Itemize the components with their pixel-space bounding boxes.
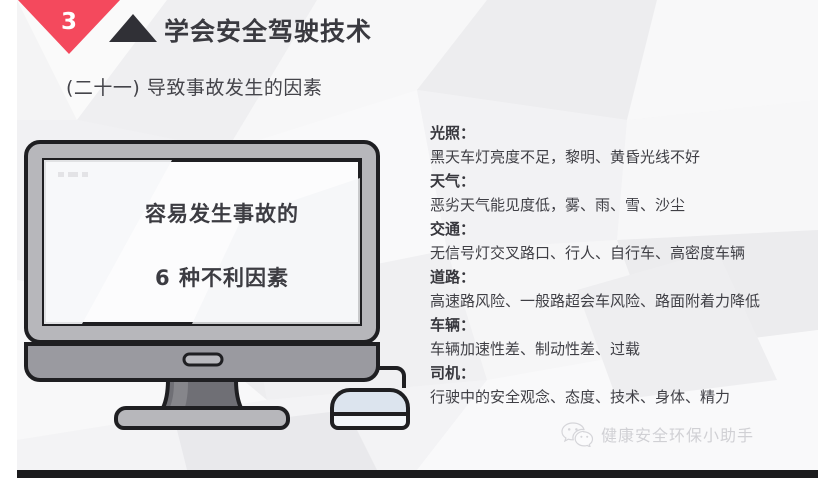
- subtitle: (二十一) 导致事故发生的因素: [66, 73, 322, 100]
- factor-description: 高速路风险、一般路超会车风险、路面附着力降低: [430, 289, 820, 314]
- power-indicator-icon: [184, 354, 222, 365]
- factor-item: 司机： 行驶中的安全观念、态度、技术、身体、精力: [430, 362, 820, 410]
- monitor-stand-base: [116, 408, 288, 428]
- factor-description: 黑天车灯亮度不足，黎明、黄昏光线不好: [430, 145, 820, 170]
- desktop-computer-icon: [22, 138, 422, 433]
- bottom-strip: [17, 470, 818, 478]
- factor-description: 行驶中的安全观念、态度、技术、身体、精力: [430, 385, 820, 410]
- page-title: 学会安全驾驶技术: [164, 12, 372, 48]
- monitor-illustration: 容易发生事故的 6 种不利因素: [22, 138, 422, 433]
- mouse-cable: [378, 368, 404, 388]
- wechat-icon: [561, 421, 595, 447]
- factor-heading: 天气：: [430, 170, 820, 193]
- watermark-label: 健康安全环保小助手: [601, 422, 754, 446]
- factor-item: 天气： 恶劣天气能见度低，雾、雨、雪、沙尘: [430, 170, 820, 218]
- factor-item: 光照： 黑天车灯亮度不足，黎明、黄昏光线不好: [430, 122, 820, 170]
- factor-heading: 道路：: [430, 266, 820, 289]
- header: 3 学会安全驾驶技术: [0, 0, 835, 64]
- factor-list: 光照： 黑天车灯亮度不足，黎明、黄昏光线不好 天气： 恶劣天气能见度低，雾、雨、…: [430, 122, 820, 410]
- factor-heading: 交通：: [430, 218, 820, 241]
- factor-description: 车辆加速性差、制动性差、过载: [430, 337, 820, 362]
- watermark: 健康安全环保小助手: [561, 421, 754, 447]
- factor-heading: 司机：: [430, 362, 820, 385]
- factor-heading: 光照：: [430, 122, 820, 145]
- factor-item: 道路： 高速路风险、一般路超会车风险、路面附着力降低: [430, 266, 820, 314]
- factor-item: 交通： 无信号灯交叉路口、行人、自行车、高密度车辆: [430, 218, 820, 266]
- factor-description: 恶劣天气能见度低，雾、雨、雪、沙尘: [430, 193, 820, 218]
- section-number: 3: [18, 9, 120, 35]
- factor-description: 无信号灯交叉路口、行人、自行车、高密度车辆: [430, 241, 820, 266]
- factor-item: 车辆： 车辆加速性差、制动性差、过载: [430, 314, 820, 362]
- factor-heading: 车辆：: [430, 314, 820, 337]
- red-pennant-icon: 3: [18, 0, 120, 54]
- slide-canvas: 3 学会安全驾驶技术 (二十一) 导致事故发生的因素: [0, 0, 835, 478]
